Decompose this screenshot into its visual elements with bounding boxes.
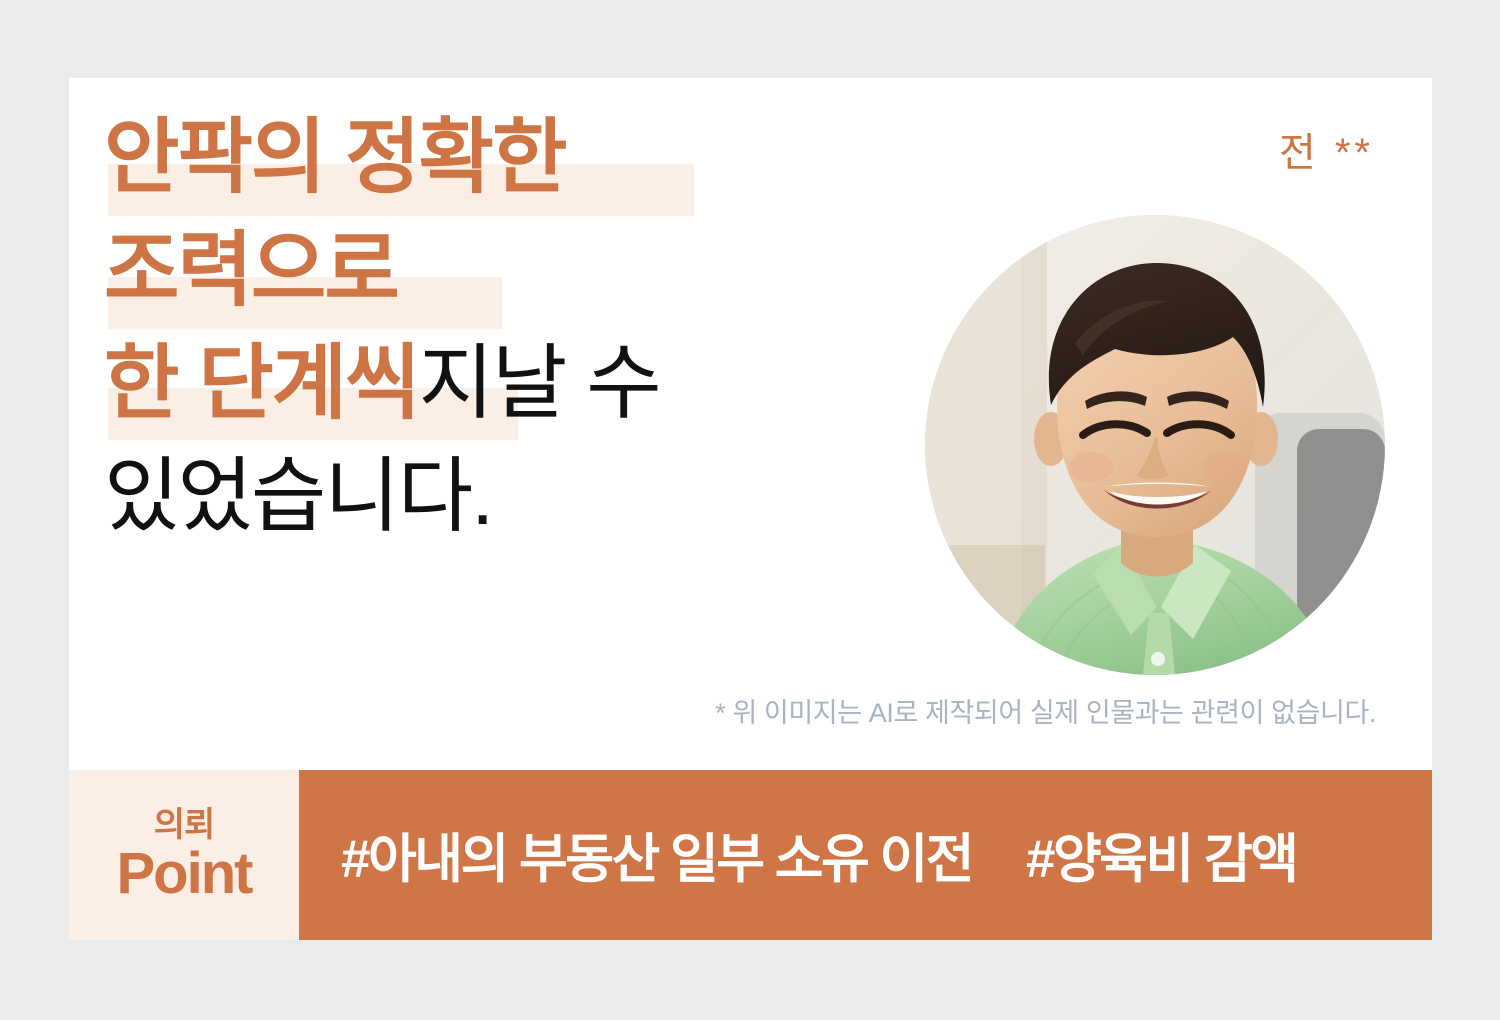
ai-image-disclaimer: * 위 이미지는 AI로 제작되어 실제 인물과는 관련이 없습니다.: [715, 691, 1376, 730]
hashtag-panel: #아내의 부동산 일부 소유 이전 #양육비 감액: [299, 770, 1432, 940]
hashtag-item[interactable]: #양육비 감액: [1026, 817, 1297, 893]
point-label-small: 의뢰: [154, 806, 215, 844]
testimonial-card: 전 ** 안팍의 정확한 조력으로 한 단계씩 지날 수 있었습니다.: [69, 78, 1432, 940]
portrait-photo: [925, 215, 1385, 675]
headline-line-3-highlight-text: 한 단계씩: [104, 332, 419, 436]
headline-line-4-text: 있었습니다.: [104, 445, 492, 549]
headline-line-3: 한 단계씩 지날 수: [104, 332, 894, 445]
headline-line-4: 있었습니다.: [104, 445, 894, 558]
page-root: 전 ** 안팍의 정확한 조력으로 한 단계씩 지날 수 있었습니다.: [0, 0, 1500, 1020]
portrait-illustration: [925, 215, 1385, 675]
headline-line-2: 조력으로: [104, 219, 894, 332]
headline-line-2-text: 조력으로: [104, 219, 398, 323]
bottom-bar: 의뢰 Point #아내의 부동산 일부 소유 이전 #양육비 감액: [69, 770, 1432, 940]
point-label-big: Point: [117, 844, 252, 904]
client-name: 전 **: [1279, 120, 1374, 178]
headline-line-1: 안팍의 정확한: [104, 106, 894, 219]
headline-line-3-rest-text: 지날 수: [419, 332, 660, 436]
point-label-panel: 의뢰 Point: [69, 770, 299, 940]
hashtag-item[interactable]: #아내의 부동산 일부 소유 이전: [341, 817, 972, 893]
headline-line-1-text: 안팍의 정확한: [104, 106, 565, 210]
headline: 안팍의 정확한 조력으로 한 단계씩 지날 수 있었습니다.: [104, 106, 894, 558]
